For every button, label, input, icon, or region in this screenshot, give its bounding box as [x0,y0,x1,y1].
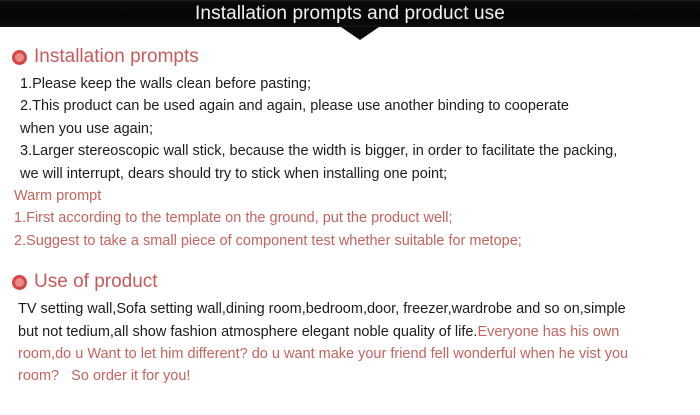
warm-prompt-item: 1.First according to the template on the… [14,207,700,229]
section-title-installation-prompts: Installation prompts [34,47,199,67]
paragraph-line: but not tedium,all show fashion atmosphe… [18,321,698,343]
section-header-installation-prompts: Installation prompts [0,45,700,69]
installation-prompts-list: 1.Please keep the walls clean before pas… [0,73,700,252]
section-spacer [0,252,700,270]
use-of-product-paragraph: TV setting wall,Sofa setting wall,dining… [0,298,700,388]
paragraph-line: room? So order it for you! [18,365,698,387]
circle-ring-icon [12,275,27,290]
section-header-use-of-product: Use of product [0,270,700,294]
list-item: 3.Larger stereoscopic wall stick, becaus… [14,140,700,162]
page-title: Installation prompts and product use [0,0,700,27]
warm-prompt-item: 2.Suggest to take a small piece of compo… [14,230,700,252]
paragraph-text-red: room,do u Want to let him different? do … [18,346,628,362]
paragraph-text-black: but not tedium,all show fashion atmosphe… [18,324,477,340]
paragraph-text-black: TV setting wall,Sofa setting wall,dining… [18,301,626,317]
paragraph-text-red: room? So order it for you! [18,368,190,384]
circle-ring-icon [12,50,27,65]
content-area: Installation prompts 1.Please keep the w… [0,45,700,388]
list-item: 1.Please keep the walls clean before pas… [14,73,700,95]
banner-notch-triangle-icon [341,27,379,40]
paragraph-line: room,do u Want to let him different? do … [18,343,698,365]
list-item: 2.This product can be used again and aga… [14,95,700,117]
paragraph-text-red: Everyone has his own [477,324,619,340]
section-title-use-of-product: Use of product [34,272,158,292]
list-item: when you use again; [14,118,700,140]
page-header-banner: Installation prompts and product use [0,0,700,27]
warm-prompt-label: Warm prompt [14,185,700,207]
paragraph-line: TV setting wall,Sofa setting wall,dining… [18,298,698,320]
list-item: we will interrupt, dears should try to s… [14,163,700,185]
